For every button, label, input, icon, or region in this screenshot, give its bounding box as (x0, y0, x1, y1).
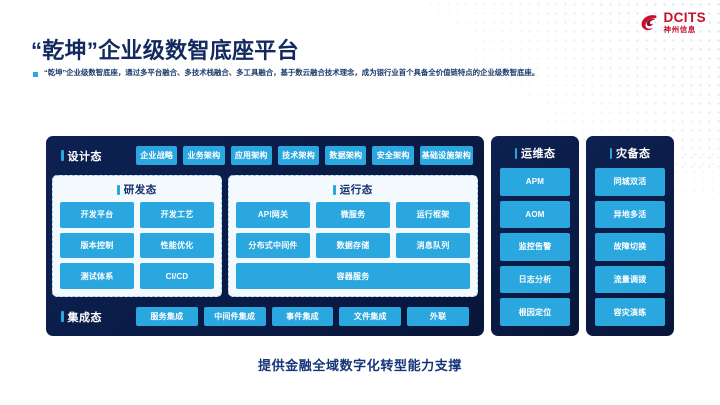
dr-cell-failover[interactable]: 故障切换 (595, 233, 665, 261)
page-title: “乾坤”企业级数智底座平台 (31, 33, 299, 65)
ops-state-cells: APM AOM 监控告警 日志分析 根因定位 (500, 168, 570, 326)
dr-state-column: 灾备态 同城双活 异地多活 故障切换 流量调拨 容灾演练 (586, 136, 674, 336)
dr-cell-traffic-scheduling[interactable]: 流量调拨 (595, 266, 665, 294)
label-accent-bar-icon (515, 148, 518, 159)
footer-tagline: 提供金融全域数字化转型能力支撑 (0, 355, 720, 374)
integration-state-label: 集成态 (57, 309, 129, 325)
ops-cell-log-analysis[interactable]: 日志分析 (500, 266, 570, 294)
dev-cell-cicd[interactable]: CI/CD (140, 263, 214, 289)
dr-state-label: 灾备态 (595, 145, 665, 161)
dev-state-label: 研发态 (60, 182, 214, 197)
square-bullet-icon (33, 72, 38, 77)
dev-cell-dev-platform[interactable]: 开发平台 (60, 202, 134, 228)
ops-state-column: 运维态 APM AOM 监控告警 日志分析 根因定位 (491, 136, 579, 336)
design-chip-enterprise-strategy[interactable]: 企业战略 (136, 146, 177, 165)
label-accent-bar-icon (610, 148, 613, 159)
design-state-chips: 企业战略 业务架构 应用架构 技术架构 数据架构 安全架构 基础设施架构 (136, 146, 473, 165)
run-cell-runtime-framework[interactable]: 运行框架 (396, 202, 470, 228)
run-state-grid: API网关 微服务 运行框架 分布式中间件 数据存储 消息队列 容器服务 (236, 202, 470, 289)
dev-cell-performance-optimization[interactable]: 性能优化 (140, 233, 214, 259)
design-chip-application-architecture[interactable]: 应用架构 (231, 146, 272, 165)
run-state-panel: 运行态 API网关 微服务 运行框架 分布式中间件 数据存储 消息队列 (228, 175, 478, 297)
ops-cell-monitoring-alarm[interactable]: 监控告警 (500, 233, 570, 261)
run-state-label: 运行态 (236, 182, 470, 197)
dev-cell-version-control[interactable]: 版本控制 (60, 233, 134, 259)
design-chip-business-architecture[interactable]: 业务架构 (183, 146, 224, 165)
integration-chip-service-integration[interactable]: 服务集成 (136, 307, 198, 326)
label-accent-bar-icon (61, 311, 64, 322)
main-shell-panel: 设计态 企业战略 业务架构 应用架构 技术架构 数据架构 安全架构 基础设施架构 (46, 136, 484, 336)
architecture-diagram: 设计态 企业战略 业务架构 应用架构 技术架构 数据架构 安全架构 基础设施架构 (46, 136, 674, 336)
integration-chip-event-integration[interactable]: 事件集成 (272, 307, 334, 326)
integration-state-chips: 服务集成 中间件集成 事件集成 文件集成 外联 (136, 307, 473, 326)
dev-state-label-text: 研发态 (124, 182, 157, 197)
design-chip-technology-architecture[interactable]: 技术架构 (278, 146, 319, 165)
run-cell-distributed-middleware[interactable]: 分布式中间件 (236, 233, 310, 259)
dev-cell-test-system[interactable]: 测试体系 (60, 263, 134, 289)
ops-cell-apm[interactable]: APM (500, 168, 570, 196)
run-state-label-text: 运行态 (340, 182, 373, 197)
run-grid-row: 分布式中间件 数据存储 消息队列 (236, 233, 470, 259)
integration-chip-external-connection[interactable]: 外联 (407, 307, 469, 326)
dev-grid-row: 版本控制 性能优化 (60, 233, 214, 259)
dev-grid-row: 开发平台 开发工艺 (60, 202, 214, 228)
subtitle-text: “乾坤”企业级数智底座，通过多平台融合、多技术栈融合、多工具融合，基于数云融合技… (44, 68, 539, 78)
design-state-row: 设计态 企业战略 业务架构 应用架构 技术架构 数据架构 安全架构 基础设施架构 (51, 141, 479, 170)
subtitle-row: “乾坤”企业级数智底座，通过多平台融合、多技术栈融合、多工具融合，基于数云融合技… (33, 68, 539, 78)
run-grid-row: 容器服务 (236, 263, 470, 289)
dev-cell-dev-process[interactable]: 开发工艺 (140, 202, 214, 228)
ops-cell-aom[interactable]: AOM (500, 201, 570, 229)
ops-cell-root-cause-location[interactable]: 根因定位 (500, 298, 570, 326)
design-chip-infrastructure-architecture[interactable]: 基础设施架构 (420, 146, 473, 165)
dev-grid-row: 测试体系 CI/CD (60, 263, 214, 289)
run-cell-data-storage[interactable]: 数据存储 (316, 233, 390, 259)
design-chip-data-architecture[interactable]: 数据架构 (325, 146, 366, 165)
dr-cell-multi-site-active[interactable]: 异地多活 (595, 201, 665, 229)
logo-en-text: DCITS (664, 11, 707, 25)
run-cell-container-service[interactable]: 容器服务 (236, 263, 470, 289)
integration-state-label-text: 集成态 (68, 309, 103, 325)
label-accent-bar-icon (117, 185, 120, 195)
integration-state-row: 集成态 服务集成 中间件集成 事件集成 文件集成 外联 (51, 302, 479, 331)
run-grid-row: API网关 微服务 运行框架 (236, 202, 470, 228)
logo-cn-text: 神州信息 (664, 26, 707, 34)
integration-chip-middleware-integration[interactable]: 中间件集成 (204, 307, 266, 326)
logo-wordmark: DCITS 神州信息 (664, 11, 707, 34)
run-cell-api-gateway[interactable]: API网关 (236, 202, 310, 228)
dcits-swirl-icon (639, 12, 660, 33)
dev-state-panel: 研发态 开发平台 开发工艺 版本控制 性能优化 测试体系 (52, 175, 222, 297)
dr-state-cells: 同城双活 异地多活 故障切换 流量调拨 容灾演练 (595, 168, 665, 326)
design-state-label-text: 设计态 (68, 148, 103, 164)
dev-state-grid: 开发平台 开发工艺 版本控制 性能优化 测试体系 CI/CD (60, 202, 214, 289)
design-state-label: 设计态 (57, 148, 129, 164)
run-cell-microservice[interactable]: 微服务 (316, 202, 390, 228)
run-cell-message-queue[interactable]: 消息队列 (396, 233, 470, 259)
integration-chip-file-integration[interactable]: 文件集成 (339, 307, 401, 326)
label-accent-bar-icon (61, 150, 64, 161)
ops-state-label: 运维态 (500, 145, 570, 161)
dr-cell-dr-drill[interactable]: 容灾演练 (595, 298, 665, 326)
slide-canvas: DCITS 神州信息 “乾坤”企业级数智底座平台 “乾坤”企业级数智底座，通过多… (0, 0, 720, 405)
mid-panels-area: 研发态 开发平台 开发工艺 版本控制 性能优化 测试体系 (51, 175, 479, 297)
dr-state-label-text: 灾备态 (616, 145, 651, 161)
design-chip-security-architecture[interactable]: 安全架构 (372, 146, 413, 165)
dcits-logo: DCITS 神州信息 (639, 11, 707, 34)
ops-state-label-text: 运维态 (521, 145, 556, 161)
dr-cell-same-city-active-active[interactable]: 同城双活 (595, 168, 665, 196)
label-accent-bar-icon (333, 185, 336, 195)
